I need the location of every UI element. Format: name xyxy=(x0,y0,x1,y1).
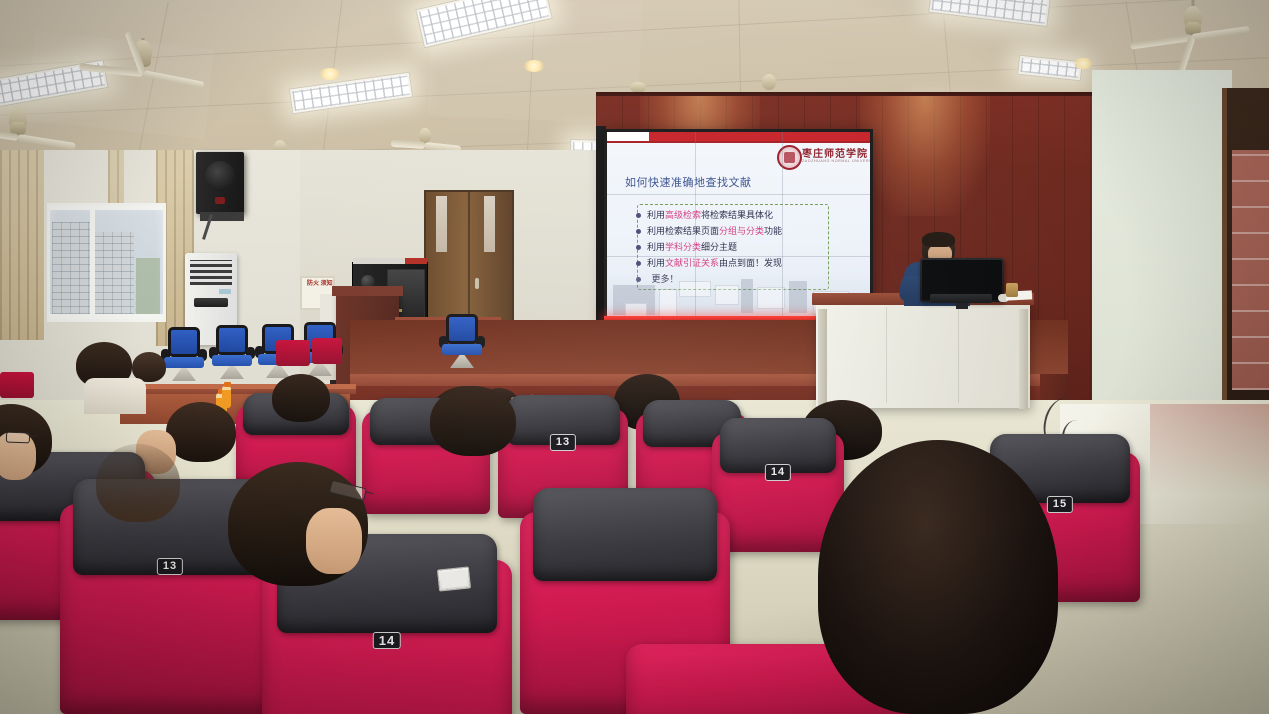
blue-office-chair[interactable] xyxy=(210,325,254,383)
audience-member xyxy=(272,374,330,422)
red-seat[interactable] xyxy=(276,340,310,366)
cup xyxy=(1006,283,1018,297)
seat-number: 13 xyxy=(550,434,576,451)
ceiling-fan xyxy=(78,38,208,98)
slide-header-rule xyxy=(607,141,870,143)
presenter-desk xyxy=(816,303,1030,408)
logo-name-cn: 枣庄师范学院 xyxy=(802,145,868,160)
logo-seal-icon xyxy=(777,145,802,170)
audience-face xyxy=(306,508,362,574)
lecture-hall-photo: 防火 须知 枣庄师范学院 ZAOZHUANG NORMAL UNIVERSITY… xyxy=(0,0,1269,714)
slide-bullet-4: 利用文献引证关系由点到面！发现 xyxy=(647,255,832,271)
audience-clothing xyxy=(84,378,146,414)
exterior-brick-wall xyxy=(1232,150,1269,390)
wall-speaker xyxy=(196,152,244,214)
speaker-bracket xyxy=(200,212,244,221)
seat-number: 14 xyxy=(373,632,401,649)
window xyxy=(47,203,166,322)
slide-header-bar xyxy=(607,132,870,141)
slide-title: 如何快速准确地查找文献 xyxy=(625,174,752,190)
slide-bullet-2: 利用检索结果页面分组与分类功能 xyxy=(647,223,832,239)
audience-member xyxy=(96,444,180,522)
audience-member xyxy=(430,386,516,456)
blue-office-chair[interactable] xyxy=(162,327,206,385)
slide-bullet-3: 利用学科分类细分主题 xyxy=(647,239,832,255)
logo-name-en: ZAOZHUANG NORMAL UNIVERSITY xyxy=(802,159,870,163)
blue-office-chair[interactable] xyxy=(440,314,484,372)
presentation-slide: 枣庄师范学院 ZAOZHUANG NORMAL UNIVERSITY 如何快速准… xyxy=(607,132,870,319)
university-logo: 枣庄师范学院 ZAOZHUANG NORMAL UNIVERSITY xyxy=(777,145,860,167)
downlight xyxy=(1073,58,1093,69)
smartphone[interactable] xyxy=(437,566,471,591)
audience-member-foreground xyxy=(818,440,1058,714)
window-curtain xyxy=(0,150,44,340)
keyboard[interactable] xyxy=(930,294,992,303)
red-seat[interactable] xyxy=(0,372,34,398)
ceiling-fan xyxy=(1128,0,1258,56)
seat-number: 14 xyxy=(765,464,791,481)
right-wall xyxy=(1092,70,1232,440)
downlight xyxy=(319,68,341,80)
red-seat[interactable] xyxy=(312,338,342,364)
seat-number: 13 xyxy=(157,558,183,575)
eyeglasses xyxy=(6,432,30,444)
downlight xyxy=(523,60,545,72)
slide-bullet-1: 利用高级检索将检索结果具体化 xyxy=(647,207,832,223)
notice-text: 防火 须知 xyxy=(307,281,333,288)
